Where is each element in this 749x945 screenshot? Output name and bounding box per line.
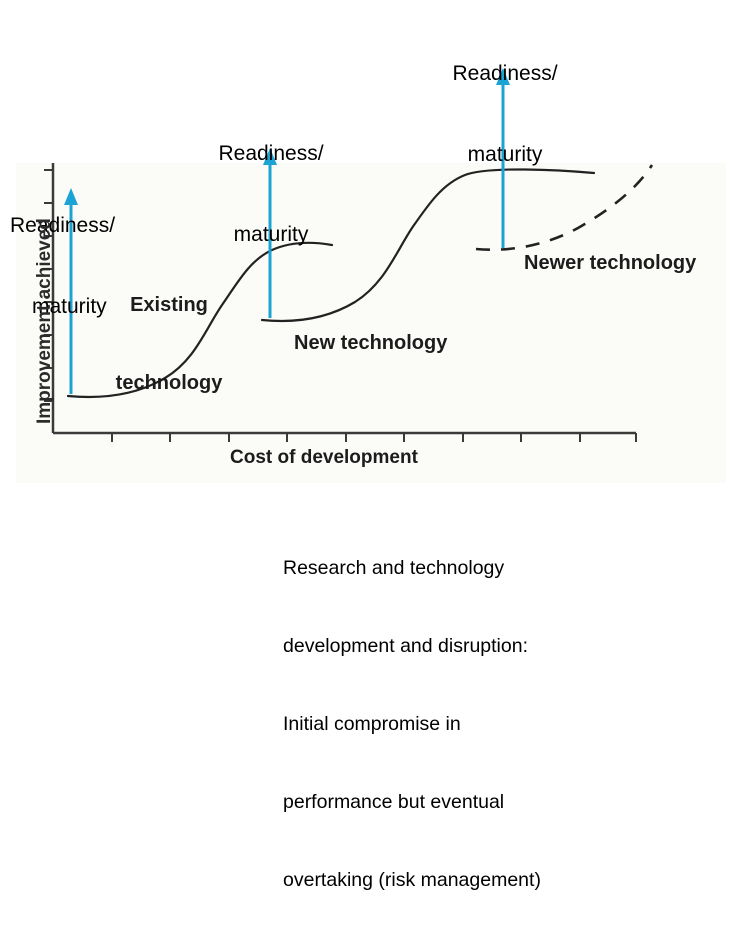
curve-label-existing-technology: Existing technology — [84, 240, 254, 448]
caption-line-1: Research and technology — [283, 555, 723, 581]
figure-caption: Research and technology development and … — [283, 503, 723, 945]
x-axis-label: Cost of development — [230, 447, 418, 469]
readiness-label-right-line2: maturity — [430, 141, 580, 168]
caption-line-4: performance but eventual — [283, 789, 723, 815]
curve-label-new-technology: New technology — [294, 330, 447, 356]
readiness-label-right-line1: Readiness/ — [430, 60, 580, 87]
readiness-label-middle-line1: Readiness/ — [196, 140, 346, 167]
figure-canvas: Readiness/ maturity Readiness/ maturity … — [0, 0, 749, 653]
caption-line-2: development and disruption: — [283, 633, 723, 659]
curve-label-existing-line1: Existing — [84, 292, 254, 318]
caption-line-3: Initial compromise in — [283, 711, 723, 737]
caption-line-5: overtaking (risk management) — [283, 867, 723, 893]
curve-label-existing-line2: technology — [84, 370, 254, 396]
curve-label-newer-technology: Newer technology — [524, 250, 696, 276]
readiness-label-right: Readiness/ maturity — [430, 6, 580, 222]
y-axis-label: Improvement achieved — [34, 218, 56, 424]
readiness-label-left-line1: Readiness/ — [10, 212, 160, 239]
